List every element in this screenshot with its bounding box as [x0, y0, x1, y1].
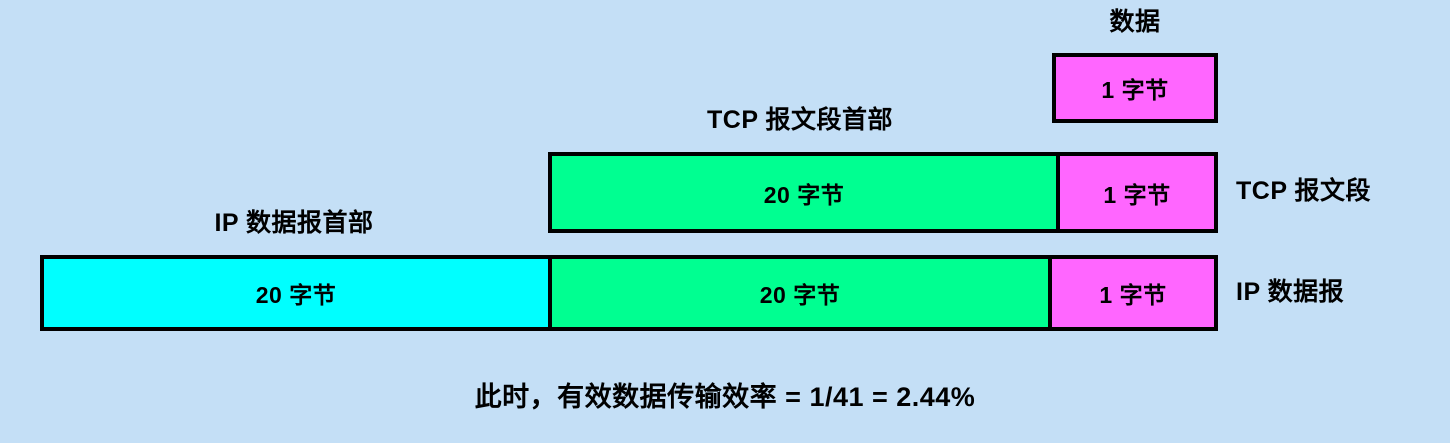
- ip-header-label: IP 数据报首部: [40, 211, 548, 236]
- ip-tcp-header-segment: 20 字节: [548, 259, 1048, 327]
- tcp-header-size-label: 20 字节: [764, 176, 844, 210]
- ip-datagram-side-label: IP 数据报: [1236, 280, 1344, 305]
- data-row: 1 字节: [1052, 53, 1218, 123]
- diagram-canvas: 数据 1 字节 TCP 报文段首部 20 字节 1 字节 TCP 报文段 IP …: [0, 0, 1450, 443]
- tcp-segment-side-label: TCP 报文段: [1236, 179, 1371, 204]
- ip-header-segment: 20 字节: [44, 259, 548, 327]
- tcp-header-segment: 20 字节: [552, 156, 1056, 229]
- tcp-payload-segment: 1 字节: [1056, 156, 1214, 229]
- data-payload-segment: 1 字节: [1056, 57, 1214, 119]
- ip-tcp-header-size-label: 20 字节: [760, 276, 840, 310]
- ip-header-size-label: 20 字节: [256, 276, 336, 310]
- data-label: 数据: [1052, 10, 1218, 35]
- ip-datagram-row: 20 字节 20 字节 1 字节: [40, 255, 1218, 331]
- ip-payload-segment: 1 字节: [1048, 259, 1214, 327]
- data-payload-label: 1 字节: [1101, 71, 1168, 105]
- efficiency-formula: 此时，有效数据传输效率 = 1/41 = 2.44%: [0, 375, 1450, 414]
- tcp-payload-size-label: 1 字节: [1103, 176, 1170, 210]
- tcp-header-label: TCP 报文段首部: [548, 108, 1052, 133]
- tcp-segment-row: 20 字节 1 字节: [548, 152, 1218, 233]
- ip-payload-size-label: 1 字节: [1099, 276, 1166, 310]
